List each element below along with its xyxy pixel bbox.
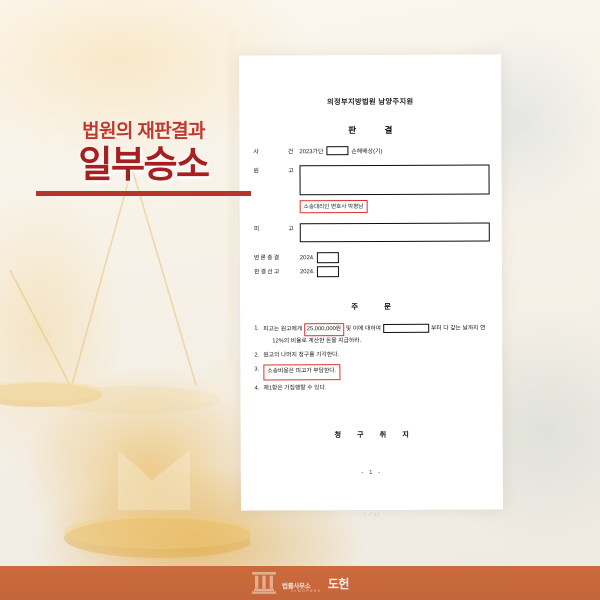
pillar-logo-icon (251, 571, 277, 595)
brand-english-text: KIMGPARK (291, 589, 321, 593)
court-name: 의정부지방법원 남양주지원 (253, 96, 487, 107)
field-closing-arguments: 변론종결 2024. (254, 251, 488, 263)
order-1-number: 1. (254, 323, 263, 334)
field-defendant-label-b: 고 (288, 223, 293, 232)
page-mark: - 1 - (255, 469, 489, 476)
order-4-text: 제1항은 가집행할 수 있다. (263, 382, 488, 394)
orders-list: 1. 피고는 원고에게 25,000,000원 및 이에 대하여부터 다 갚는 … (254, 322, 488, 394)
order-1-text-c: 부터 다 갚는 날까지 연 (431, 326, 485, 332)
redacted-closing-date (317, 252, 339, 263)
field-defendant: 피고 (254, 222, 488, 242)
redacted-case-number (326, 146, 348, 155)
headline-kicker: 법원의 재판결과 (36, 122, 251, 143)
order-item-2: 2. 원고의 나머지 청구를 기각한다. (254, 350, 488, 362)
redacted-defendant-info (300, 222, 490, 242)
order-2-text: 원고의 나머지 청구를 기각한다. (263, 350, 488, 362)
main-text-heading: 주 문 (254, 300, 488, 312)
page-counter: 1 / 11 (255, 511, 489, 517)
order-3-number: 3. (254, 364, 263, 375)
field-sentencing-label: 판결선고 (254, 266, 281, 275)
verdict-title: 판 결 (253, 123, 487, 136)
brand-name: 도헌 (328, 575, 349, 592)
field-case-label-a: 사 (253, 146, 258, 155)
claim-purpose-heading: 청 구 취 지 (255, 429, 489, 440)
field-closing-label: 변론종결 (254, 252, 281, 261)
order-1-text-b: 및 이에 대하여 (346, 326, 381, 332)
field-plaintiff-label-b: 고 (288, 165, 293, 174)
order-item-1: 1. 피고는 원고에게 25,000,000원 및 이에 대하여부터 다 갚는 … (254, 322, 488, 348)
field-case: 사건 2023가단 손해배상(기) (253, 145, 487, 155)
redacted-plaintiff-info (299, 164, 489, 195)
closing-date-year: 2024. (300, 255, 315, 261)
order-1-amount-highlight: 25,000,000원 (304, 323, 344, 336)
case-number-prefix: 2023가단 (299, 146, 323, 155)
order-3-highlight: 소송비용은 피고가 부담한다. (263, 364, 340, 381)
court-judgment-document: 의정부지방법원 남양주지원 판 결 사건 2023가단 손해배상(기) 원고 소… (239, 54, 503, 510)
order-item-4: 4. 제1항은 가집행할 수 있다. (254, 382, 488, 394)
order-1-text-a: 피고는 원고에게 (263, 326, 302, 332)
counsel-highlight: 소송대리인 변호사 박평남 (300, 200, 368, 213)
counsel-line: 소송대리인 변호사 박평남 (300, 199, 488, 213)
order-2-number: 2. (254, 351, 263, 362)
order-4-number: 4. (254, 383, 263, 394)
brand-footer-bar: 법률사무소 KIMGPARK 도헌 (0, 566, 600, 600)
field-plaintiff: 원고 (253, 164, 487, 195)
headline-overlay: 법원의 재판결과 일부승소 (36, 122, 251, 196)
sentencing-date-year: 2024. (300, 269, 315, 275)
field-sentencing: 판결선고 2024. (254, 265, 488, 277)
field-defendant-label-a: 피 (254, 223, 259, 232)
order-1-line-2: 12%의 비율로 계산한 돈을 지급하라. (272, 338, 361, 344)
headline-underline (36, 191, 251, 196)
case-type-suffix: 손해배상(기) (351, 146, 382, 155)
field-plaintiff-label-a: 원 (253, 165, 258, 174)
headline-main: 일부승소 (36, 145, 251, 184)
redacted-interest-start-date (383, 324, 429, 333)
order-item-3: 3. 소송비용은 피고가 부담한다. (254, 363, 488, 380)
field-case-label-b: 건 (288, 146, 293, 155)
redacted-sentencing-date (317, 266, 339, 277)
